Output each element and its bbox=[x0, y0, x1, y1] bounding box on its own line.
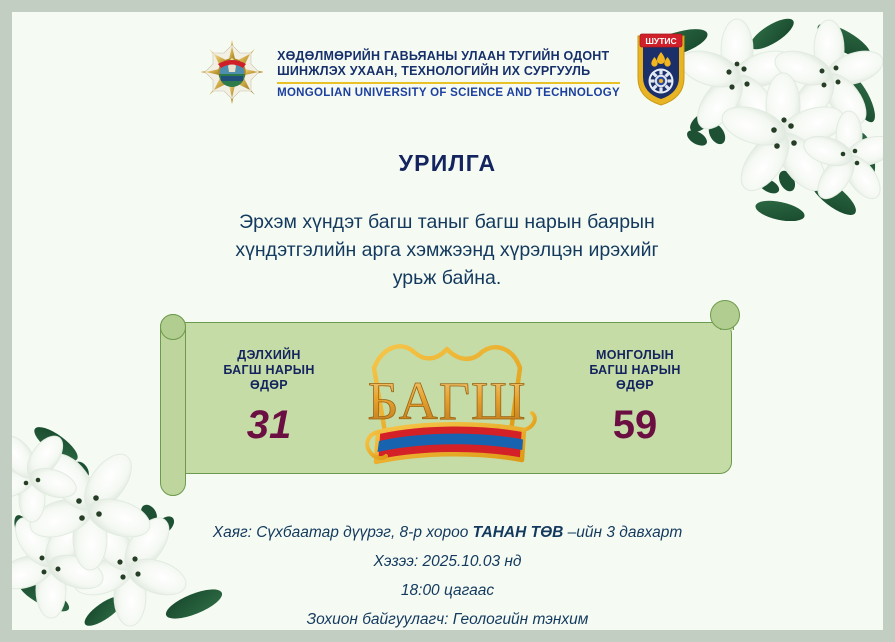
scroll-roll-right-cap bbox=[710, 300, 740, 330]
invitation-card: ХӨДӨЛМӨРИЙН ГАВЬЯАНЫ УЛААН ТУГИЙН ОДОНТ … bbox=[12, 12, 883, 630]
world-teachers-day-number: 31 bbox=[194, 403, 344, 447]
world-teachers-day-block: ДЭЛХИЙН БАГШ НАРЫН ӨДӨР 31 bbox=[194, 348, 344, 447]
footer-date: Хэзээ: 2025.10.03 нд bbox=[12, 547, 883, 576]
university-name-english: MONGOLIAN UNIVERSITY OF SCIENCE AND TECH… bbox=[277, 87, 620, 99]
mongolian-teachers-day-label-line3: ӨДӨР bbox=[560, 378, 710, 393]
footer-organizer: Зохион байгуулагч: Геологийн тэнхим bbox=[12, 605, 883, 630]
university-name-line2: ШИНЖЛЭХ УХААН, ТЕХНОЛОГИЙН ИХ СУРГУУЛЬ bbox=[277, 64, 620, 79]
bagsh-emblem-text: БАГШ bbox=[368, 371, 527, 431]
footer-address-suffix: –ийн 3 давхарт bbox=[563, 524, 682, 541]
mongolian-teachers-day-label-line1: МОНГОЛЫН bbox=[560, 348, 710, 363]
invitation-body-text: Эрхэм хүндэт багш таныг багш нарын баяры… bbox=[212, 208, 682, 292]
mongolian-teachers-day-label-line2: БАГШ НАРЫН bbox=[560, 363, 710, 378]
footer-address-prefix: Хаяг: Сүхбаатар дүүрэг, 8-р хороо bbox=[213, 524, 473, 541]
order-of-the-red-banner-of-labour-medal-icon bbox=[201, 38, 263, 106]
footer-address-venue: ТАНАН ТӨВ bbox=[473, 524, 564, 541]
world-teachers-day-label-line2: БАГШ НАРЫН bbox=[194, 363, 344, 378]
must-shield-logo-icon: ШУТИС bbox=[634, 30, 694, 113]
footer-time: 18:00 цагаас bbox=[12, 576, 883, 605]
scroll-roll-left bbox=[160, 314, 186, 496]
scroll-roll-left-cap bbox=[160, 314, 186, 340]
university-name-block: ХӨДӨЛМӨРИЙН ГАВЬЯАНЫ УЛААН ТУГИЙН ОДОНТ … bbox=[277, 45, 620, 99]
world-teachers-day-label-line1: ДЭЛХИЙН bbox=[194, 348, 344, 363]
bagsh-teacher-emblem-icon: БАГШ bbox=[352, 334, 552, 470]
mongolian-teachers-day-number: 59 bbox=[560, 403, 710, 447]
header-divider-rule bbox=[277, 82, 620, 84]
world-teachers-day-label-line3: ӨДӨР bbox=[194, 378, 344, 393]
footer-address: Хаяг: Сүхбаатар дүүрэг, 8-р хороо ТАНАН … bbox=[12, 518, 883, 547]
page-title: УРИЛГА bbox=[12, 150, 883, 177]
scroll-banner: ДЭЛХИЙН БАГШ НАРЫН ӨДӨР 31 МОНГОЛЫН БАГШ… bbox=[152, 298, 752, 498]
mongolian-teachers-day-block: МОНГОЛЫН БАГШ НАРЫН ӨДӨР 59 bbox=[560, 348, 710, 447]
header: ХӨДӨЛМӨРИЙН ГАВЬЯАНЫ УЛААН ТУГИЙН ОДОНТ … bbox=[12, 30, 883, 113]
footer-details: Хаяг: Сүхбаатар дүүрэг, 8-р хороо ТАНАН … bbox=[12, 518, 883, 630]
shield-banner-text: ШУТИС bbox=[645, 36, 676, 46]
university-name-line1: ХӨДӨЛМӨРИЙН ГАВЬЯАНЫ УЛААН ТУГИЙН ОДОНТ bbox=[277, 49, 620, 64]
